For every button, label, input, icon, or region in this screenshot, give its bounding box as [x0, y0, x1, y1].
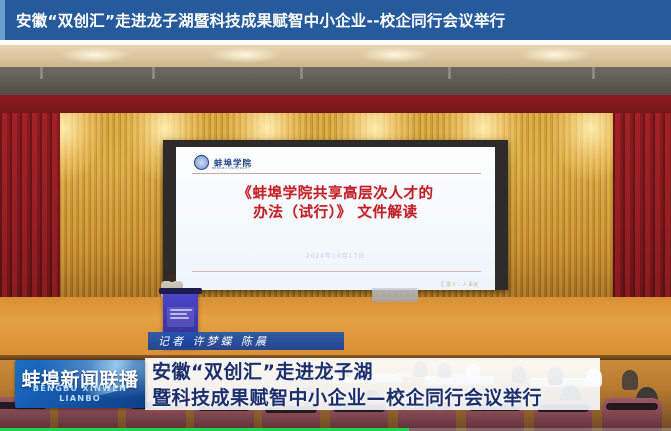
slide-divider-top [192, 173, 481, 174]
slide-school-name-en: BENGBU UNIVERSITY [212, 166, 250, 170]
seat [398, 398, 456, 431]
slide-title-line2: 办法（试行）》 文件解读 [186, 204, 485, 223]
red-curtain-valance [0, 95, 671, 113]
audience-person [466, 364, 480, 380]
name-card [398, 372, 411, 377]
name-card [452, 373, 465, 378]
projection-screen: 蚌埠学院 BENGBU UNIVERSITY 《蚌埠学院共享高层次人才的 办法（… [163, 140, 508, 290]
audience-person [512, 366, 526, 383]
seat [126, 397, 186, 431]
video-player[interactable]: 蚌埠学院 BENGBU UNIVERSITY 《蚌埠学院共享高层次人才的 办法（… [0, 45, 671, 431]
seat [330, 400, 388, 431]
lectern-top [159, 288, 202, 294]
audience-person [414, 361, 427, 377]
seat [466, 399, 524, 431]
seat [194, 399, 254, 431]
header-accent-stripe [0, 0, 5, 40]
audience-person [622, 370, 638, 390]
seat [58, 395, 118, 431]
audience-person [548, 367, 563, 385]
stage-floor [0, 297, 671, 357]
seat [602, 398, 662, 431]
seat [534, 400, 592, 431]
audience-person [586, 368, 602, 387]
auditorium-ceiling [0, 45, 671, 67]
slide-date: 2024年10月17日 [176, 251, 495, 260]
video-frame-scene: 蚌埠学院 BENGBU UNIVERSITY 《蚌埠学院共享高层次人才的 办法（… [0, 45, 671, 431]
presentation-slide: 蚌埠学院 BENGBU UNIVERSITY 《蚌埠学院共享高层次人才的 办法（… [176, 147, 495, 290]
slide-signature: 汇报人：人事处 [440, 282, 479, 290]
lectern-banner [167, 307, 194, 327]
speaker-head [168, 273, 176, 282]
page-header-bar: 安徽“双创汇”走进龙子湖暨科技成果赋智中小企业--校企同行会议举行 [0, 0, 671, 40]
slide-title-line1: 《蚌埠学院共享高层次人才的 [186, 185, 485, 204]
slide-divider-bottom [192, 271, 481, 272]
audience-person [438, 363, 451, 378]
lectern-podium [163, 293, 198, 347]
audience-person [360, 364, 372, 378]
school-emblem-icon [194, 155, 209, 170]
seat [262, 401, 320, 431]
slide-title: 《蚌埠学院共享高层次人才的 办法（试行）》 文件解读 [186, 185, 485, 224]
seat [0, 397, 50, 431]
page-title: 安徽“双创汇”走进龙子湖暨科技成果赋智中小企业--校企同行会议举行 [16, 9, 505, 31]
stage-side-table [372, 288, 418, 302]
audience-person [338, 362, 350, 377]
